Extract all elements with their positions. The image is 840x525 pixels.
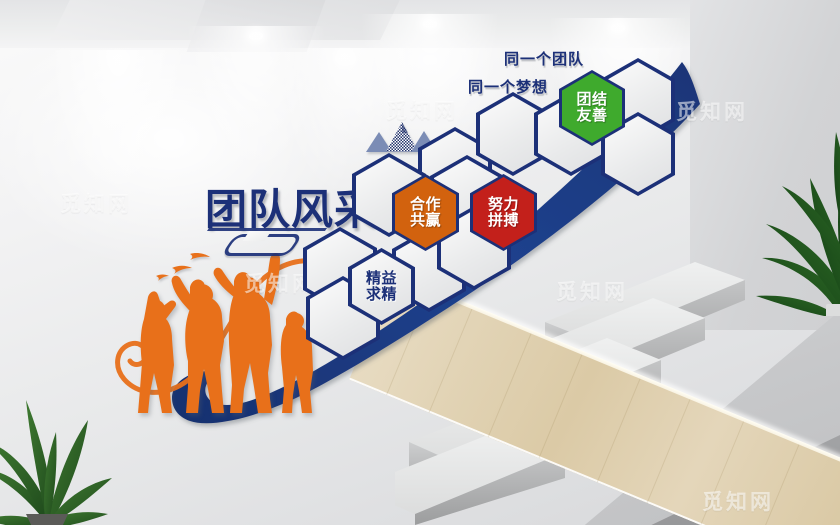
watermark: 觅知网 [676, 96, 748, 126]
hexagon-tile-labeled: 精益求精 [348, 248, 415, 325]
hexagon-shape: 合作共赢 [392, 174, 459, 251]
watermark: 觅知网 [60, 188, 132, 218]
hexagon-label: 精益求精 [366, 271, 397, 303]
watermark: 觅知网 [556, 276, 628, 306]
watermark: 觅知网 [702, 486, 774, 516]
slogan-line-1: 同一个团队 [504, 48, 584, 69]
watermark: 觅知网 [386, 95, 458, 125]
hexagon-label: 团结友善 [576, 92, 607, 124]
hexagon-shape: 精益求精 [348, 248, 415, 325]
hexagon-label: 合作共赢 [410, 197, 441, 229]
hexagon-shape: 努力拼搏 [470, 174, 537, 251]
scene-root: 团结友善合作共赢努力拼搏精益求精 团队风采 同一个团队 同一个梦想 觅知网觅知网… [0, 0, 840, 525]
culture-wall-artwork: 团结友善合作共赢努力拼搏精益求精 团队风采 同一个团队 同一个梦想 [0, 0, 840, 525]
hexagon-tile-labeled: 努力拼搏 [470, 174, 537, 251]
hexagon-tile-labeled: 合作共赢 [392, 174, 459, 251]
hexagon-shape: 团结友善 [559, 70, 625, 146]
hexagon-label: 努力拼搏 [488, 197, 519, 229]
hexagon-tile-labeled: 团结友善 [559, 70, 625, 146]
